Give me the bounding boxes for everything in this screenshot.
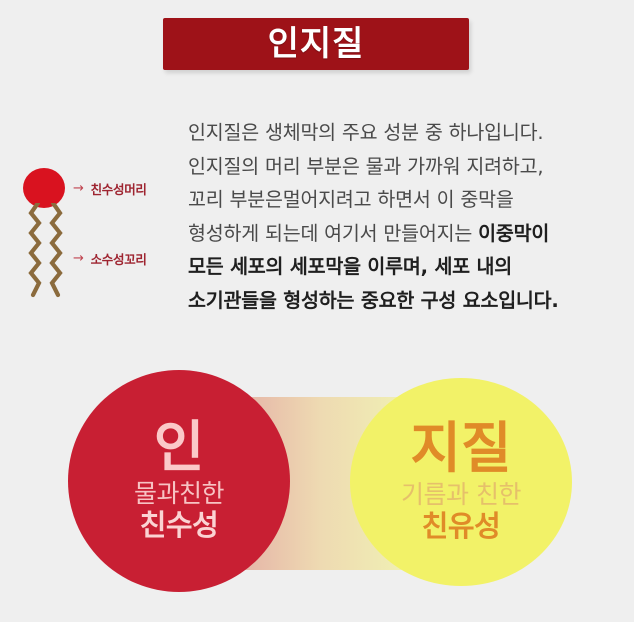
comparison-section: 인 물과친한 친수성 지질 기름과 친한 친유성 (0, 366, 634, 598)
paragraph-line-6-text: 소기관들을 형성하는 중요한 구성 요소입니다. (188, 289, 559, 312)
circle-phosphate: 인 물과친한 친수성 (68, 370, 290, 592)
description-paragraph: 인지질은 생체막의 주요 성분 중 하나입니다. 인지질의 머리 부분은 물과 … (188, 116, 620, 317)
circle-lipid-title: 지질 (401, 421, 521, 476)
hydrophobic-tails-icon (23, 203, 73, 303)
page-title: 인지질 (268, 27, 365, 61)
infographic-page: 인지질 인지질은 생체막의 주요 성분 중 하나입니다. 인지질의 머리 부분은… (0, 0, 634, 622)
circle-phosphate-content: 인 물과친한 친수성 (134, 420, 224, 542)
paragraph-line-2-text: 인지질의 머리 부분은 물과 가까워 지려하고, (188, 155, 543, 178)
paragraph-line-1-text: 인지질은 생체막의 주요 성분 중 하나입니다. (188, 121, 543, 144)
paragraph-line-4: 형성하게 되는데 여기서 만들어지는 이중막이 (188, 217, 620, 251)
paragraph-line-4-text: 형성하게 되는데 여기서 만들어지는 (188, 222, 478, 245)
circle-lipid: 지질 기름과 친한 친유성 (350, 378, 572, 586)
hydrophobic-tail-label: → 소수성꼬리 (73, 249, 147, 268)
paragraph-line-6: 소기관들을 형성하는 중요한 구성 요소입니다. (188, 284, 620, 318)
paragraph-line-3-text: 꼬리 부분은멀어지려고 하면서 이 중막을 (188, 188, 514, 211)
circle-phosphate-title: 인 (134, 420, 224, 475)
arrow-right-icon: → (73, 181, 84, 196)
arrow-right-icon: → (73, 251, 84, 266)
circle-phosphate-keyword: 친수성 (134, 509, 224, 542)
paragraph-line-5: 모든 세포의 세포막을 이루며, 세포 내의 (188, 250, 620, 284)
circle-phosphate-subtitle: 물과친한 (134, 479, 224, 509)
circle-lipid-subtitle: 기름과 친한 (401, 480, 521, 510)
paragraph-line-5-text: 모든 세포의 세포막을 이루며, 세포 내의 (188, 255, 512, 278)
circle-lipid-keyword: 친유성 (401, 510, 521, 543)
paragraph-line-4-emphasis: 이중막이 (478, 222, 549, 245)
phospholipid-diagram: → 친수성머리 → 소수성꼬리 (18, 163, 178, 303)
paragraph-line-1: 인지질은 생체막의 주요 성분 중 하나입니다. (188, 116, 620, 150)
paragraph-line-3: 꼬리 부분은멀어지려고 하면서 이 중막을 (188, 183, 620, 217)
circle-lipid-content: 지질 기름과 친한 친유성 (401, 421, 521, 543)
hydrophilic-head-label-text: 친수성머리 (91, 179, 147, 198)
hydrophilic-head-icon (23, 168, 65, 208)
paragraph-line-2: 인지질의 머리 부분은 물과 가까워 지려하고, (188, 150, 620, 184)
hydrophilic-head-label: → 친수성머리 (73, 179, 147, 198)
hydrophobic-tail-label-text: 소수성꼬리 (91, 249, 147, 268)
title-banner: 인지질 (163, 18, 469, 70)
